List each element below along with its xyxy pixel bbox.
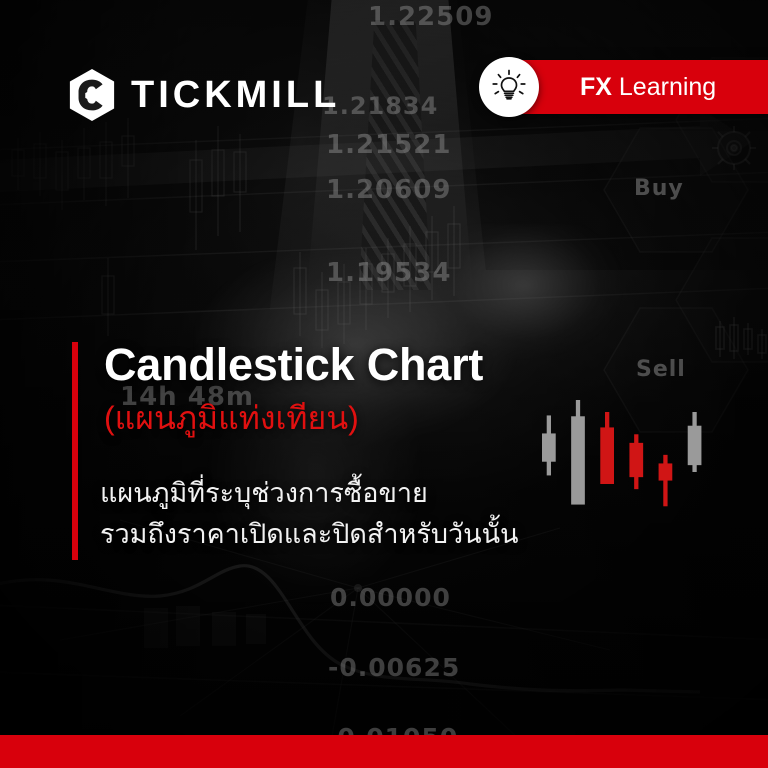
background-price-4: 1.20609 xyxy=(326,175,451,205)
page-title-thai: (แผนภูมิแท่งเทียน) xyxy=(104,399,359,437)
candle-body-6 xyxy=(688,426,702,465)
candle-body-4 xyxy=(629,443,643,477)
background-price-6: 0.00000 xyxy=(330,583,451,612)
lightbulb-badge-circle xyxy=(479,57,539,117)
description-text: แผนภูมิที่ระบุช่วงการซื้อขาย รวมถึงราคาเ… xyxy=(100,473,519,555)
candle-body-1 xyxy=(542,433,556,461)
background-price-3: 1.21521 xyxy=(326,130,451,160)
footer-red-bar xyxy=(0,735,768,768)
poster-canvas: 1.225091.218341.215211.206091.195340.000… xyxy=(0,0,768,768)
tickmill-wordmark: TICKMILL xyxy=(131,76,340,114)
tickmill-hexagon-logo-icon xyxy=(67,68,117,122)
candlestick-illustration xyxy=(530,368,710,528)
lightbulb-icon xyxy=(489,67,529,107)
description-line-2: รวมถึงราคาเปิดและปิดสำหรับวันนั้น xyxy=(100,514,519,555)
candle-body-2 xyxy=(571,416,585,504)
fx-learning-label-spacer xyxy=(612,73,619,101)
background-price-7: -0.00625 xyxy=(328,653,460,682)
background-price-1: 1.22509 xyxy=(368,2,493,32)
tickmill-logo[interactable]: TICKMILL xyxy=(67,68,340,122)
candle-body-5 xyxy=(659,463,673,480)
background-hex-label-buy: Buy xyxy=(634,176,684,201)
background-price-5: 1.19534 xyxy=(326,258,451,288)
candle-body-3 xyxy=(600,427,614,484)
fx-learning-label-bold: FX xyxy=(580,73,612,101)
fx-learning-label: FX Learning xyxy=(580,75,716,100)
fx-learning-label-rest: Learning xyxy=(619,73,716,101)
fx-learning-badge[interactable]: FX Learning xyxy=(508,60,768,114)
page-title: Candlestick Chart xyxy=(104,341,483,388)
red-accent-bar xyxy=(72,342,78,560)
description-line-1: แผนภูมิที่ระบุช่วงการซื้อขาย xyxy=(100,473,519,514)
